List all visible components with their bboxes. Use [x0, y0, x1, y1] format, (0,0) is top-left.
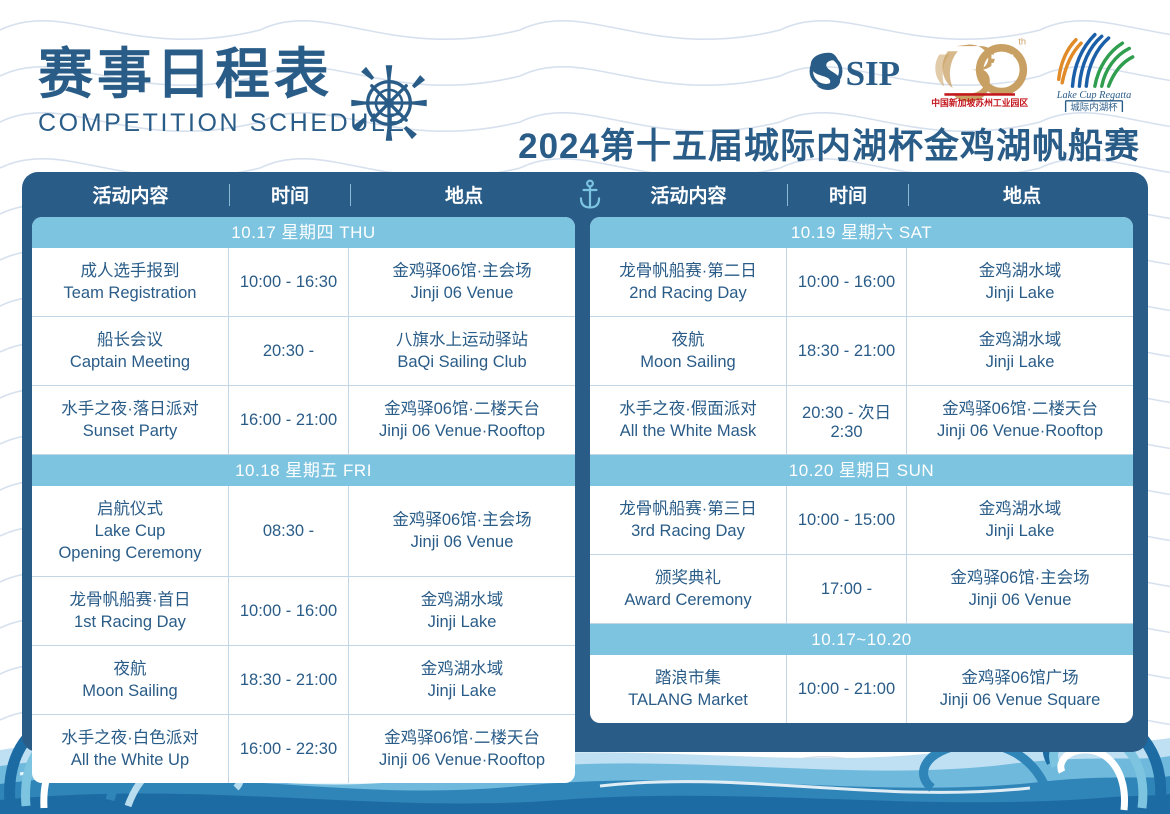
activity-name-cn: 启航仪式 [97, 498, 163, 520]
activity-name-en: Lake Cup [95, 520, 166, 542]
cell-venue: 金鸡驿06馆·二楼天台Jinji 06 Venue·Rooftop [907, 386, 1133, 454]
activity-name-en: Team Registration [64, 282, 197, 304]
header-divider [787, 184, 788, 206]
header-divider [350, 184, 351, 206]
cell-activity: 水手之夜·假面派对All the White Mask [590, 386, 787, 454]
activity-name-cn: 夜航 [672, 329, 705, 351]
ship-wheel-icon [348, 62, 430, 144]
schedule-right-panel: 活动内容 时间 地点 10.19 星期六 SAT龙骨帆船赛·第二日2nd Rac… [590, 172, 1138, 752]
activity-name-cn: 颁奖典礼 [655, 567, 721, 589]
venue-name-cn: 金鸡驿06馆·主会场 [392, 509, 531, 531]
cell-activity: 启航仪式Lake CupOpening Ceremony [32, 486, 229, 576]
date-group-header: 10.19 星期六 SAT [590, 217, 1133, 248]
date-group-header: 10.17~10.20 [590, 624, 1133, 655]
venue-name-en: Jinji 06 Venue·Rooftop [379, 420, 545, 442]
logo-group: SIP th 中国新加坡苏州工业园区 [798, 26, 1142, 112]
activity-name-en: 3rd Racing Day [631, 520, 745, 542]
venue-name-en: Jinji 06 Venue [969, 589, 1072, 611]
activity-name-cn: 成人选手报到 [81, 260, 180, 282]
column-header-time: 时间 [230, 181, 350, 208]
table-row: 龙骨帆船赛·第三日3rd Racing Day10:00 - 15:00金鸡湖水… [590, 486, 1133, 555]
activity-name-cn: 船长会议 [97, 329, 163, 351]
lake-cup-regatta-logo: Lake Cup Regatta 城际内湖杯 [1046, 26, 1142, 112]
column-header-time: 时间 [788, 181, 908, 208]
cell-activity: 水手之夜·白色派对All the White Up [32, 715, 229, 783]
column-header-venue: 地点 [909, 181, 1135, 208]
table-row: 颁奖典礼Award Ceremony17:00 -金鸡驿06馆·主会场Jinji… [590, 555, 1133, 624]
date-group-header: 10.17 星期四 THU [32, 217, 575, 248]
venue-name-en: Jinji Lake [986, 520, 1055, 542]
schedule-table-right: 10.19 星期六 SAT龙骨帆船赛·第二日2nd Racing Day10:0… [590, 217, 1133, 723]
schedule-frame: 活动内容 时间 地点 10.17 星期四 THU成人选手报到Team Regis… [22, 172, 1148, 752]
svg-text:th: th [1018, 36, 1026, 46]
table-row: 踏浪市集TALANG Market10:00 - 21:00金鸡驿06馆广场Ji… [590, 655, 1133, 723]
lcr-script: Lake Cup Regatta [1056, 90, 1131, 101]
cell-venue: 金鸡湖水域Jinji Lake [907, 317, 1133, 385]
table-row: 龙骨帆船赛·第二日2nd Racing Day10:00 - 16:00金鸡湖水… [590, 248, 1133, 317]
column-header-row-right: 活动内容 时间 地点 [590, 172, 1138, 217]
cell-venue: 金鸡驿06馆广场Jinji 06 Venue Square [907, 655, 1133, 723]
cell-venue: 金鸡驿06馆·二楼天台Jinji 06 Venue·Rooftop [349, 386, 575, 454]
cell-time: 17:00 - [787, 555, 907, 623]
cell-time: 10:00 - 16:00 [787, 248, 907, 316]
venue-name-en: Jinji Lake [986, 282, 1055, 304]
activity-name-cn: 夜航 [114, 658, 147, 680]
column-header-row-left: 活动内容 时间 地点 [32, 172, 580, 217]
venue-name-cn: 金鸡湖水域 [979, 329, 1062, 351]
cell-time: 16:00 - 21:00 [229, 386, 349, 454]
activity-name-cn: 龙骨帆船赛·第三日 [619, 498, 757, 520]
venue-name-cn: 八旗水上运动驿站 [396, 329, 528, 351]
activity-name-cn: 水手之夜·白色派对 [61, 727, 199, 749]
schedule-left-panel: 活动内容 时间 地点 10.17 星期四 THU成人选手报到Team Regis… [32, 172, 580, 752]
cell-activity: 龙骨帆船赛·第三日3rd Racing Day [590, 486, 787, 554]
cell-time: 18:30 - 21:00 [229, 646, 349, 714]
cell-activity: 龙骨帆船赛·第二日2nd Racing Day [590, 248, 787, 316]
activity-name-en: 2nd Racing Day [629, 282, 746, 304]
cell-venue: 金鸡湖水域Jinji Lake [349, 646, 575, 714]
cell-activity: 龙骨帆船赛·首日1st Racing Day [32, 577, 229, 645]
activity-name-en: Captain Meeting [70, 351, 190, 373]
activity-name-en: 1st Racing Day [74, 611, 186, 633]
event-subtitle: 2024第十五届城际内湖杯金鸡湖帆船赛 [518, 118, 1140, 169]
activity-name-cn: 踏浪市集 [655, 667, 721, 689]
venue-name-en: Jinji 06 Venue Square [940, 689, 1101, 711]
table-row: 夜航Moon Sailing18:30 - 21:00金鸡湖水域Jinji La… [32, 646, 575, 715]
svg-text:SIP: SIP [846, 54, 900, 93]
cell-activity: 夜航Moon Sailing [590, 317, 787, 385]
activity-name-en-2: Opening Ceremony [58, 542, 201, 564]
cell-activity: 踏浪市集TALANG Market [590, 655, 787, 723]
schedule-table-left: 10.17 星期四 THU成人选手报到Team Registration10:0… [32, 217, 575, 783]
cell-venue: 金鸡湖水域Jinji Lake [349, 577, 575, 645]
activity-name-en: Award Ceremony [624, 589, 751, 611]
cell-time: 10:00 - 16:00 [229, 577, 349, 645]
poster-header: 赛事日程表 COMPETITION SCHEDULE [0, 0, 1170, 172]
anchor-icon [575, 172, 605, 217]
venue-name-cn: 金鸡湖水域 [979, 260, 1062, 282]
table-row: 水手之夜·白色派对All the White Up16:00 - 22:30金鸡… [32, 715, 575, 783]
activity-name-cn: 龙骨帆船赛·首日 [70, 589, 191, 611]
venue-name-en: Jinji 06 Venue·Rooftop [937, 420, 1103, 442]
cell-venue: 金鸡驿06馆·主会场Jinji 06 Venue [349, 486, 575, 576]
venue-name-en: BaQi Sailing Club [397, 351, 526, 373]
venue-name-cn: 金鸡驿06馆·二楼天台 [384, 398, 540, 420]
date-group-header: 10.18 星期五 FRI [32, 455, 575, 486]
venue-name-en: Jinji Lake [428, 611, 497, 633]
venue-name-cn: 金鸡驿06馆·主会场 [950, 567, 1089, 589]
venue-name-en: Jinji 06 Venue [411, 531, 514, 553]
table-row: 船长会议Captain Meeting20:30 -八旗水上运动驿站BaQi S… [32, 317, 575, 386]
cell-time: 08:30 - [229, 486, 349, 576]
date-group-header: 10.20 星期日 SUN [590, 455, 1133, 486]
cell-activity: 颁奖典礼Award Ceremony [590, 555, 787, 623]
venue-name-cn: 金鸡驿06馆·二楼天台 [384, 727, 540, 749]
cell-activity: 夜航Moon Sailing [32, 646, 229, 714]
table-row: 水手之夜·假面派对All the White Mask20:30 - 次日2:3… [590, 386, 1133, 455]
cell-activity: 水手之夜·落日派对Sunset Party [32, 386, 229, 454]
cell-venue: 金鸡湖水域Jinji Lake [907, 248, 1133, 316]
activity-name-cn: 龙骨帆船赛·第二日 [619, 260, 757, 282]
sip-logo: SIP [798, 40, 910, 102]
cell-venue: 金鸡驿06馆·二楼天台Jinji 06 Venue·Rooftop [349, 715, 575, 783]
venue-name-cn: 金鸡湖水域 [421, 589, 504, 611]
lcr-caption: 城际内湖杯 [1070, 101, 1118, 112]
venue-name-en: Jinji 06 Venue·Rooftop [379, 749, 545, 771]
cell-time: 16:00 - 22:30 [229, 715, 349, 783]
column-header-activity: 活动内容 [32, 181, 229, 208]
activity-name-cn: 水手之夜·假面派对 [619, 398, 757, 420]
venue-name-cn: 金鸡驿06馆·主会场 [392, 260, 531, 282]
table-row: 启航仪式Lake CupOpening Ceremony08:30 -金鸡驿06… [32, 486, 575, 577]
venue-name-cn: 金鸡驿06馆广场 [961, 667, 1078, 689]
activity-name-cn: 水手之夜·落日派对 [61, 398, 199, 420]
venue-name-en: Jinji Lake [428, 680, 497, 702]
activity-name-en: Sunset Party [83, 420, 177, 442]
venue-name-en: Jinji Lake [986, 351, 1055, 373]
header-divider [908, 184, 909, 206]
activity-name-en: All the White Mask [620, 420, 757, 442]
cell-time: 10:00 - 16:30 [229, 248, 349, 316]
cell-venue: 金鸡湖水域Jinji Lake [907, 486, 1133, 554]
table-row: 水手之夜·落日派对Sunset Party16:00 - 21:00金鸡驿06馆… [32, 386, 575, 455]
table-row: 夜航Moon Sailing18:30 - 21:00金鸡湖水域Jinji La… [590, 317, 1133, 386]
activity-name-en: TALANG Market [628, 689, 748, 711]
cell-time: 10:00 - 21:00 [787, 655, 907, 723]
sip-30th-anniversary-logo: th 中国新加坡苏州工业园区 [926, 26, 1030, 110]
venue-name-cn: 金鸡驿06馆·二楼天台 [942, 398, 1098, 420]
cell-venue: 金鸡驿06馆·主会场Jinji 06 Venue [907, 555, 1133, 623]
cell-time: 18:30 - 21:00 [787, 317, 907, 385]
venue-name-en: Jinji 06 Venue [411, 282, 514, 304]
cell-time: 20:30 - 次日2:30 [787, 386, 907, 454]
competition-schedule-poster: 赛事日程表 COMPETITION SCHEDULE [0, 0, 1170, 814]
table-row: 龙骨帆船赛·首日1st Racing Day10:00 - 16:00金鸡湖水域… [32, 577, 575, 646]
cell-venue: 金鸡驿06馆·主会场Jinji 06 Venue [349, 248, 575, 316]
cell-time: 20:30 - [229, 317, 349, 385]
venue-name-cn: 金鸡湖水域 [979, 498, 1062, 520]
venue-name-cn: 金鸡湖水域 [421, 658, 504, 680]
column-header-activity: 活动内容 [590, 181, 787, 208]
header-divider [229, 184, 230, 206]
table-row: 成人选手报到Team Registration10:00 - 16:30金鸡驿0… [32, 248, 575, 317]
cell-activity: 船长会议Captain Meeting [32, 317, 229, 385]
column-header-venue: 地点 [351, 181, 577, 208]
activity-name-en: Moon Sailing [82, 680, 177, 702]
activity-name-en: Moon Sailing [640, 351, 735, 373]
cell-activity: 成人选手报到Team Registration [32, 248, 229, 316]
cell-time: 10:00 - 15:00 [787, 486, 907, 554]
sip-30th-caption: 中国新加坡苏州工业园区 [931, 97, 1028, 108]
activity-name-en: All the White Up [71, 749, 189, 771]
cell-venue: 八旗水上运动驿站BaQi Sailing Club [349, 317, 575, 385]
